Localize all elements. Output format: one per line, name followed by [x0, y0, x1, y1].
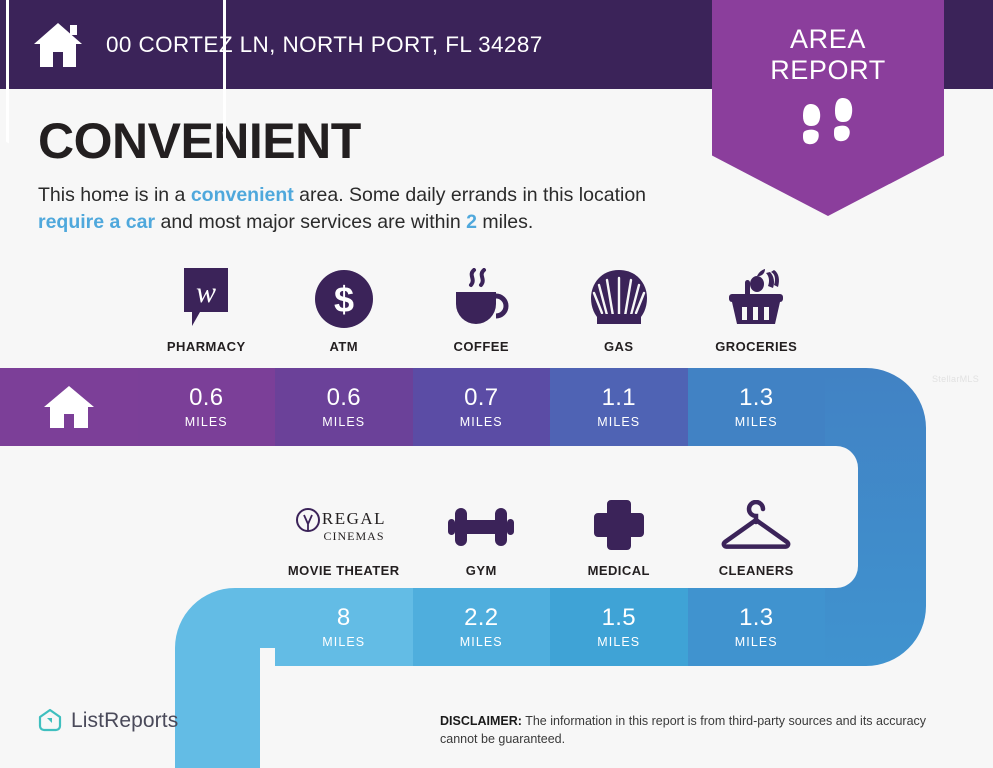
distance-bar-row-1: 0.6 MILES 0.6 MILES 0.7 MILES 1.1 MILES …: [0, 368, 826, 446]
distance-cell-coffee: 0.7 MILES: [413, 368, 551, 446]
listreports-house-icon: [38, 708, 62, 734]
distance-cell-gas: 1.1 MILES: [550, 368, 688, 446]
badge-line-1: AREA: [712, 24, 944, 55]
distance-cell-cleaners: 1.3 MILES: [688, 588, 826, 666]
distance-cell-movie-theater: 8 MILES: [275, 588, 413, 666]
distance-value: 1.3: [739, 386, 773, 410]
distance-value: 0.6: [189, 386, 223, 410]
distance-value: 1.1: [602, 386, 636, 410]
distance-bar-row-2: 8 MILES 2.2 MILES 1.5 MILES 1.3 MILES: [275, 588, 826, 666]
distance-cell-pharmacy: 0.6 MILES: [138, 368, 276, 446]
distance-cell-groceries: 1.3 MILES: [688, 368, 826, 446]
distance-value: 8: [337, 606, 351, 630]
distance-unit: MILES: [322, 415, 365, 429]
distance-unit: MILES: [597, 415, 640, 429]
distance-value: 2.2: [464, 606, 498, 630]
distance-unit: MILES: [460, 635, 503, 649]
distance-value: 0.6: [327, 386, 361, 410]
listreports-logo-text: ListReports: [71, 709, 178, 733]
home-origin-cell: [0, 368, 138, 446]
distance-cell-atm: 0.6 MILES: [275, 368, 413, 446]
distance-unit: MILES: [735, 415, 778, 429]
distance-unit: MILES: [735, 635, 778, 649]
distance-value: 1.5: [602, 606, 636, 630]
footprints-icon: [795, 98, 861, 150]
distance-value: 1.3: [739, 606, 773, 630]
house-icon: [42, 383, 96, 431]
watermark: StellarMLS: [932, 374, 979, 384]
distance-cell-medical: 1.5 MILES: [550, 588, 688, 666]
distance-unit: MILES: [597, 635, 640, 649]
badge-line-2: REPORT: [712, 55, 944, 86]
distance-unit: MILES: [460, 415, 503, 429]
distance-unit: MILES: [322, 635, 365, 649]
badge-title: AREA REPORT: [712, 24, 944, 86]
distance-unit: MILES: [185, 415, 228, 429]
distance-cell-gym: 2.2 MILES: [413, 588, 551, 666]
listreports-logo[interactable]: ListReports: [38, 708, 178, 734]
distance-value: 0.7: [464, 386, 498, 410]
